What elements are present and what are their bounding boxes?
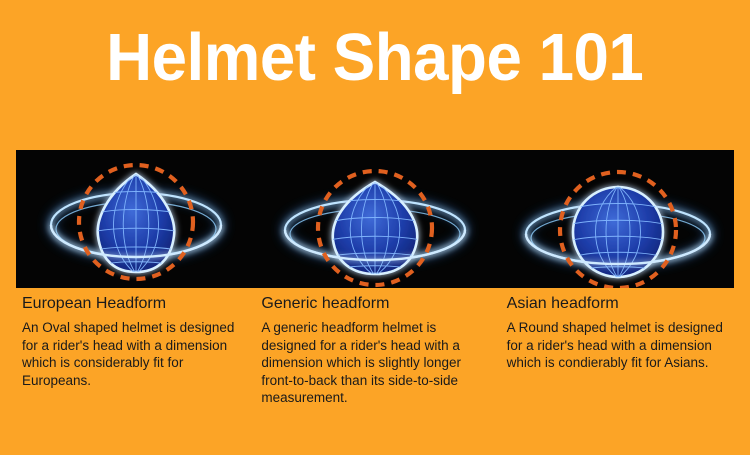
caption-heading-asian: Asian headform — [507, 294, 738, 314]
page-title: Helmet Shape 101 — [106, 22, 643, 94]
caption-body-asian: A Round shaped helmet is designed for a … — [507, 319, 738, 372]
generic-headform-diagram — [255, 150, 494, 288]
caption-column-asian: Asian headform A Round shaped helmet is … — [503, 294, 746, 407]
caption-heading-european: European Headform — [22, 294, 251, 314]
caption-column-european: European Headform An Oval shaped helmet … — [16, 294, 259, 407]
caption-columns: European Headform An Oval shaped helmet … — [16, 294, 746, 407]
round-headform-diagram — [495, 150, 734, 288]
caption-body-generic: A generic headform helmet is designed fo… — [261, 319, 494, 407]
oval-headform-diagram — [16, 150, 255, 288]
poster-root: Helmet Shape 101 — [0, 0, 750, 455]
headform-image-strip — [16, 150, 734, 288]
caption-column-generic: Generic headform A generic headform helm… — [259, 294, 502, 407]
caption-body-european: An Oval shaped helmet is designed for a … — [22, 319, 251, 389]
caption-heading-generic: Generic headform — [261, 294, 494, 314]
title-bar: Helmet Shape 101 — [0, 22, 750, 94]
